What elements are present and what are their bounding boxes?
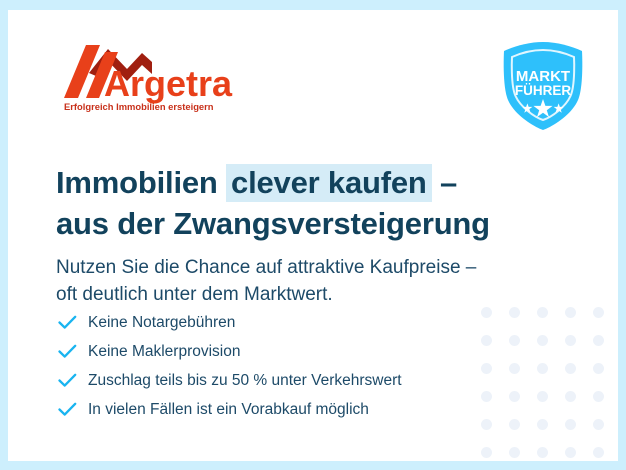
dot [537,335,548,346]
logo-tagline: Erfolgreich Immobilien ersteigern [64,101,214,112]
list-item: Keine Maklerprovision [58,337,528,366]
promo-banner: Argetra Erfolgreich Immobilien ersteiger… [0,0,626,470]
dot [565,363,576,374]
dot [593,335,604,346]
dot [593,447,604,458]
benefit-label: In vielen Fällen ist ein Vorabkauf mögli… [88,401,369,419]
benefit-list: Keine Notargebühren Keine Maklerprovisio… [58,308,528,424]
headline-part1: Immobilien [56,165,226,200]
dot [537,419,548,430]
badge-line2: FÜHRER [515,83,571,98]
dot [593,419,604,430]
dot [537,363,548,374]
dot [509,447,520,458]
dot [593,391,604,402]
list-item: Keine Notargebühren [58,308,528,337]
list-item: Zuschlag teils bis zu 50 % unter Verkehr… [58,366,528,395]
check-icon [58,344,88,359]
banner-canvas: Argetra Erfolgreich Immobilien ersteiger… [8,10,618,461]
dot [537,307,548,318]
subheadline-line2: oft deutlich unter dem Marktwert. [56,281,576,308]
list-item: In vielen Fällen ist ein Vorabkauf mögli… [58,395,528,424]
page-title: Immobilien clever kaufen – aus der Zwang… [56,164,576,242]
headline-line2: aus der Zwangsversteigerung [56,205,576,242]
dot [537,391,548,402]
subheadline: Nutzen Sie die Chance auf attraktive Kau… [56,254,576,308]
dot [593,307,604,318]
market-leader-badge: MARKT FÜHRER [495,40,591,132]
dot [481,447,492,458]
dot [565,307,576,318]
dot [593,363,604,374]
check-icon [58,373,88,388]
dot [565,447,576,458]
argetra-logo[interactable]: Argetra Erfolgreich Immobilien ersteiger… [56,40,266,115]
benefit-label: Zuschlag teils bis zu 50 % unter Verkehr… [88,372,402,390]
check-icon [58,315,88,330]
dot [537,447,548,458]
dot [565,391,576,402]
dot [565,335,576,346]
subheadline-line1: Nutzen Sie die Chance auf attraktive Kau… [56,257,476,278]
dot [565,419,576,430]
headline-part2: – [432,165,457,200]
logo-wordmark: Argetra [104,63,233,104]
benefit-label: Keine Maklerprovision [88,343,241,361]
benefit-label: Keine Notargebühren [88,314,235,332]
headline-highlight: clever kaufen [226,164,432,202]
check-icon [58,402,88,417]
